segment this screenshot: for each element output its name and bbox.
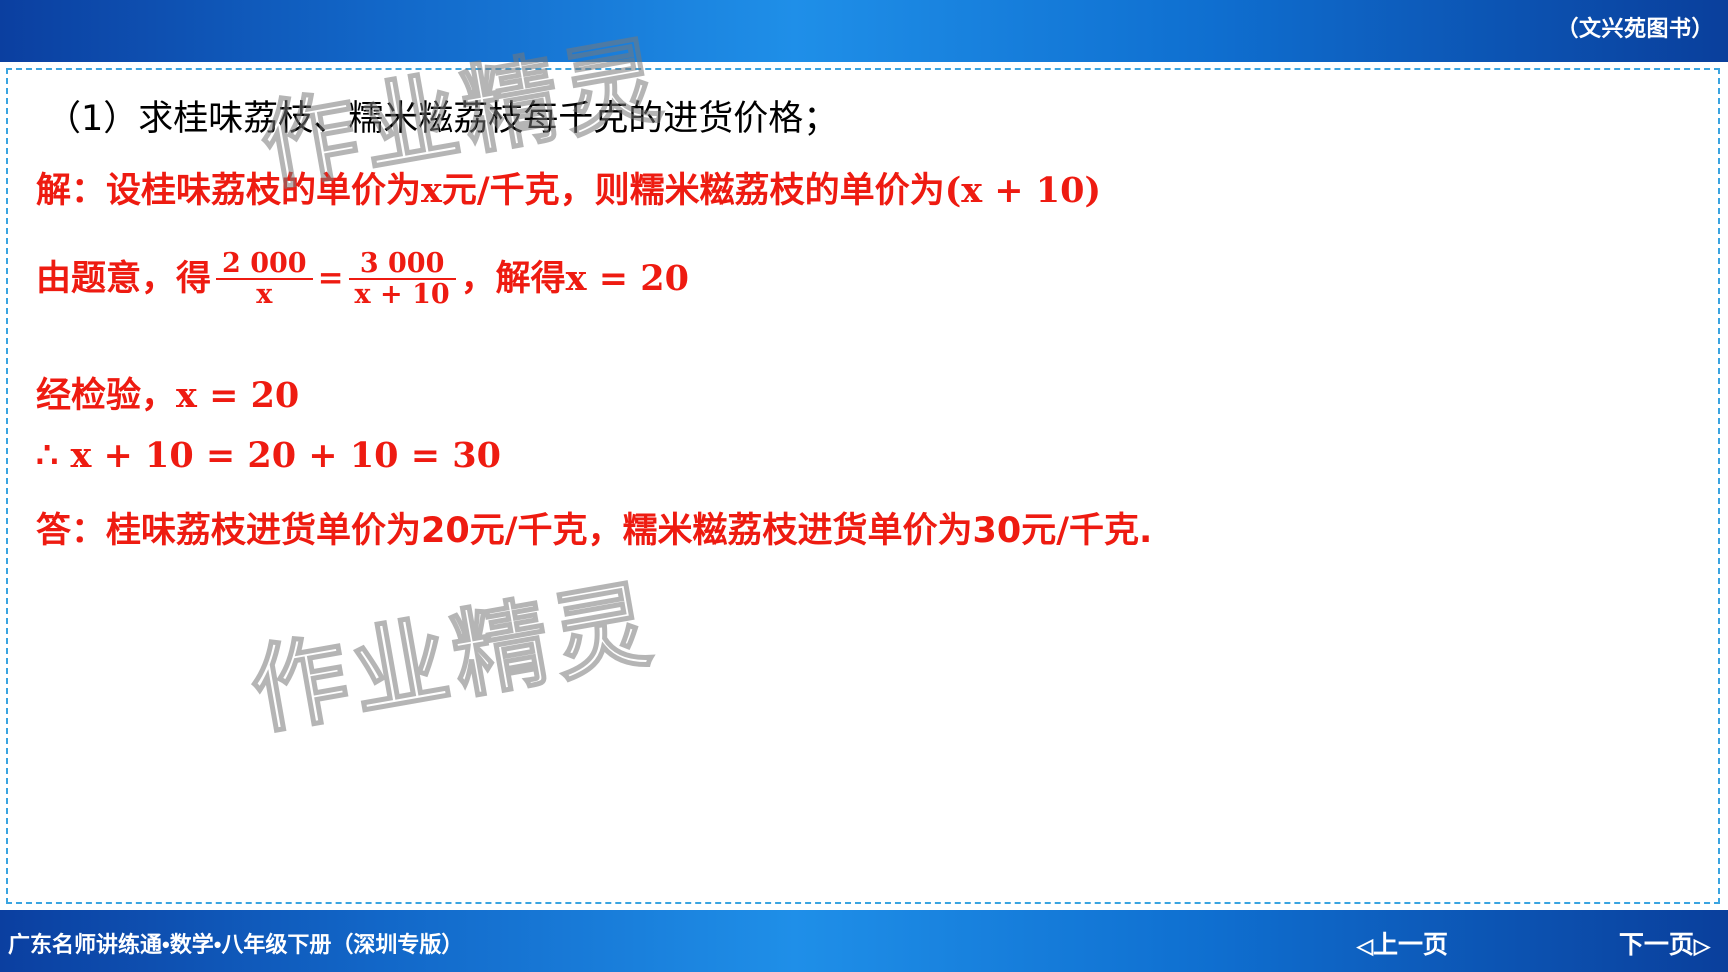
equals-sign: = [318,260,344,296]
publisher-label: （文兴苑图书） [1556,11,1714,43]
solution-line-2-result: x = 20 [566,258,689,299]
solution-line-2-part-a: 由题意，得 [36,259,211,299]
next-page-label: 下一页 [1619,931,1694,959]
content-body: （1）求桂味荔枝、糯米糍荔枝每千克的进货价格； 解：设桂味荔枝的单价为x元/千克… [8,70,1718,902]
solution-line-4: ∴ x + 10 = 20 + 10 = 30 [36,435,501,476]
prev-arrow-icon: ◁ [1357,935,1373,958]
bottom-bar: 广东名师讲练通•数学•八年级下册（深圳专版） ◁上一页 下一页▷ [0,910,1728,972]
next-arrow-icon: ▷ [1694,935,1710,958]
solution-line-1-part-a: 解：设桂味荔枝的单价为 [36,171,421,211]
solution-line-5: 答：桂味荔枝进货单价为20元/千克，糯米糍荔枝进货单价为30元/千克. [36,502,1152,553]
book-title-label: 广东名师讲练通•数学•八年级下册（深圳专版） [8,927,463,959]
solution-line-1-variable: x [421,170,442,211]
content-frame: （1）求桂味荔枝、糯米糍荔枝每千克的进货价格； 解：设桂味荔枝的单价为x元/千克… [6,68,1720,904]
fraction-left-denominator: x [216,278,313,309]
prev-page-label: 上一页 [1373,931,1448,959]
solution-line-2-part-b: ，解得 [461,259,566,299]
solution-line-3-part-a: 经检验， [36,376,176,416]
equation-fractions: 2 000x=3 000x + 10 [211,248,461,308]
fraction-right: 3 000x + 10 [349,249,456,309]
fraction-left-numerator: 2 000 [216,249,313,278]
top-bar: （文兴苑图书） [0,0,1728,62]
solution-line-1-expression: (x + 10) [945,170,1101,211]
prev-page-button[interactable]: ◁上一页 [1357,925,1448,961]
fraction-left: 2 000x [216,249,313,309]
solution-line-2: 由题意，得2 000x=3 000x + 10，解得x = 20 [36,250,689,310]
next-page-button[interactable]: 下一页▷ [1619,925,1710,961]
solution-line-1-part-b: 元/千克，则糯米糍荔枝的单价为 [442,171,945,211]
slide-page: （文兴苑图书） （1）求桂味荔枝、糯米糍荔枝每千克的进货价格； 解：设桂味荔枝的… [0,0,1728,972]
fraction-right-numerator: 3 000 [349,249,456,278]
solution-line-3: 经检验，x = 20 [36,367,299,418]
question-text: （1）求桂味荔枝、糯米糍荔枝每千克的进货价格； [46,90,838,141]
fraction-right-denominator: x + 10 [349,278,456,309]
solution-line-3-value: x = 20 [176,375,299,416]
solution-line-1: 解：设桂味荔枝的单价为x元/千克，则糯米糍荔枝的单价为(x + 10) [36,162,1101,213]
watermark-bottom: 作业精灵 [239,546,665,754]
